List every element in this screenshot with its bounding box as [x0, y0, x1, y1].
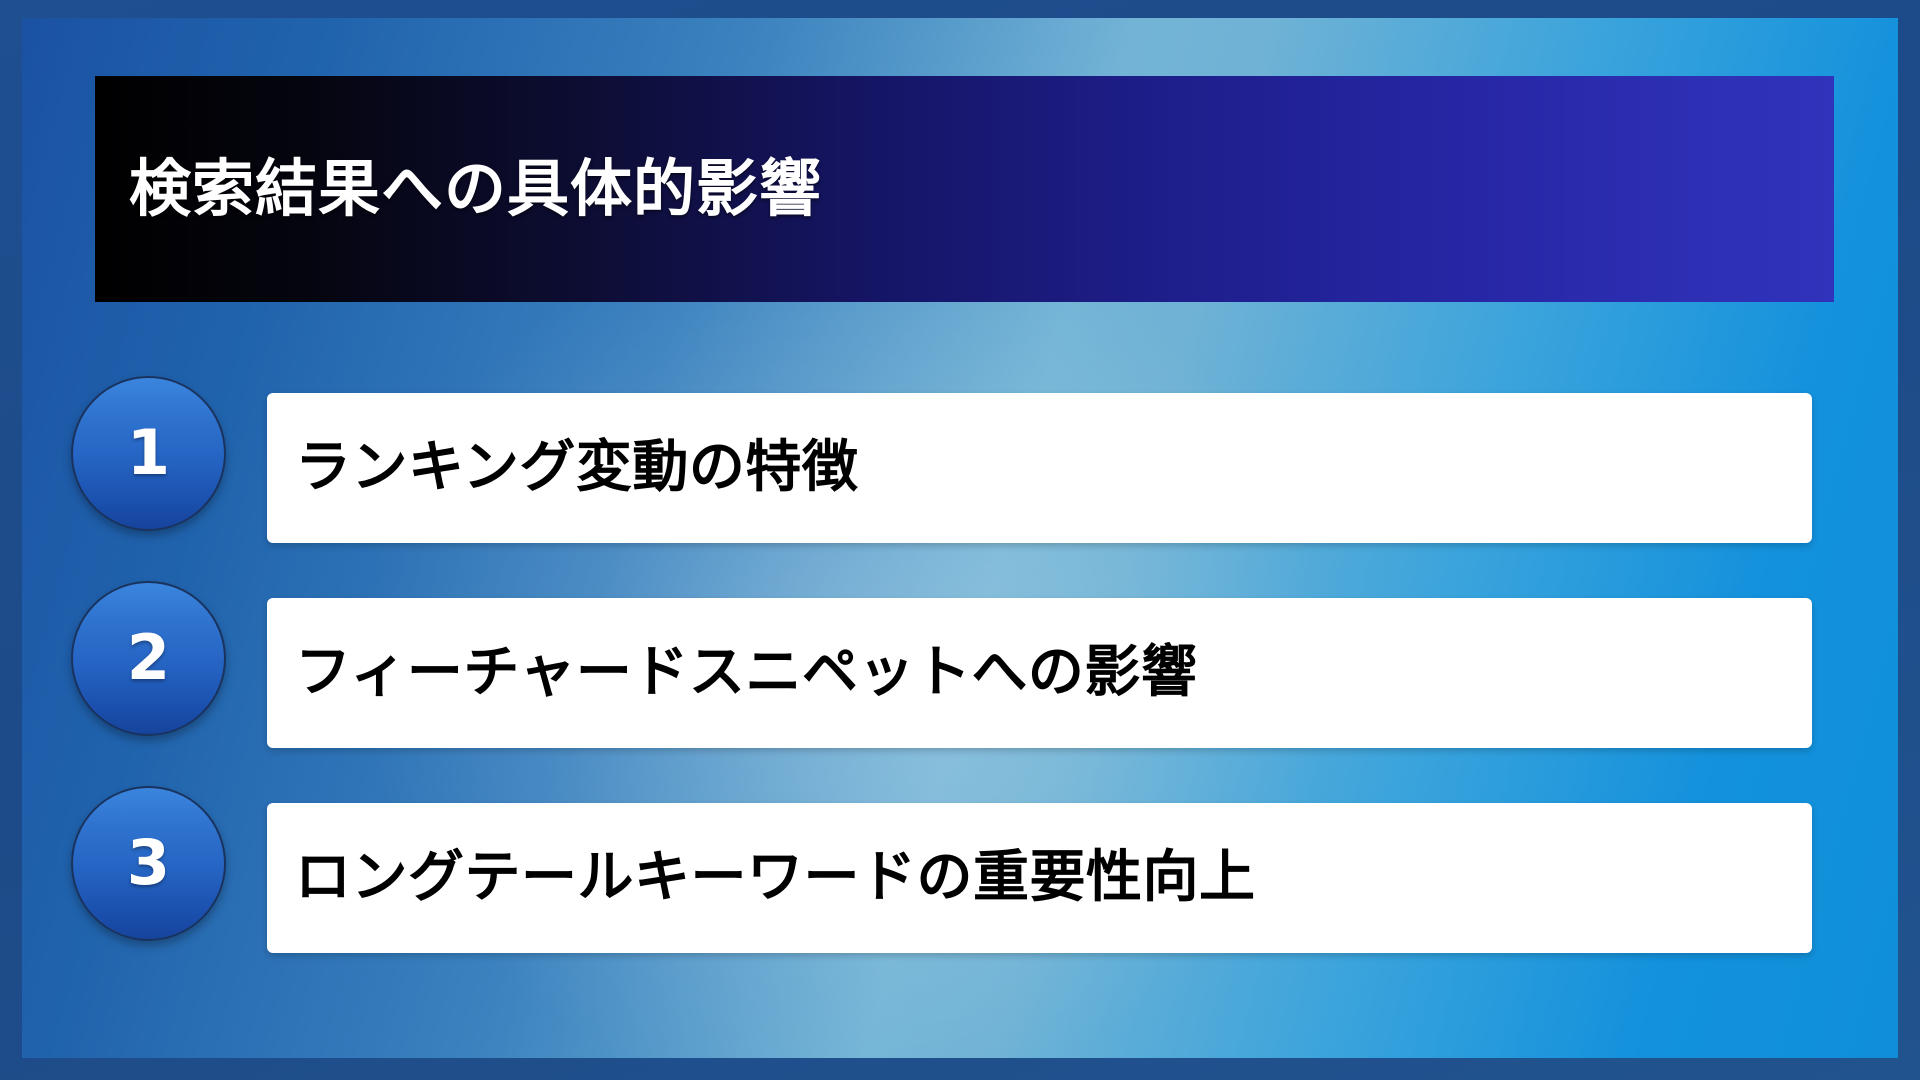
item-number-badge: 2	[71, 581, 226, 736]
slide-frame: 検索結果への具体的影響 1 ランキング変動の特徴 2 フィーチャードスニペットへ…	[0, 0, 1920, 1080]
item-number-label: 1	[127, 422, 170, 484]
list-item[interactable]: 2 フィーチャードスニペットへの影響	[22, 581, 1898, 736]
item-card[interactable]: ロングテールキーワードの重要性向上	[267, 803, 1812, 953]
list-item[interactable]: 1 ランキング変動の特徴	[22, 376, 1898, 531]
list-item[interactable]: 3 ロングテールキーワードの重要性向上	[22, 786, 1898, 941]
item-card[interactable]: ランキング変動の特徴	[267, 393, 1812, 543]
slide-canvas: 検索結果への具体的影響 1 ランキング変動の特徴 2 フィーチャードスニペットへ…	[22, 18, 1898, 1058]
page-title: 検索結果への具体的影響	[129, 155, 822, 223]
item-number-label: 2	[127, 627, 170, 689]
item-card-label: ランキング変動の特徴	[295, 436, 858, 500]
item-card-label: フィーチャードスニペットへの影響	[295, 641, 1197, 705]
item-card[interactable]: フィーチャードスニペットへの影響	[267, 598, 1812, 748]
item-number-label: 3	[127, 832, 170, 894]
title-banner: 検索結果への具体的影響	[95, 76, 1834, 302]
item-number-badge: 1	[71, 376, 226, 531]
item-number-badge: 3	[71, 786, 226, 941]
item-card-label: ロングテールキーワードの重要性向上	[295, 846, 1256, 910]
